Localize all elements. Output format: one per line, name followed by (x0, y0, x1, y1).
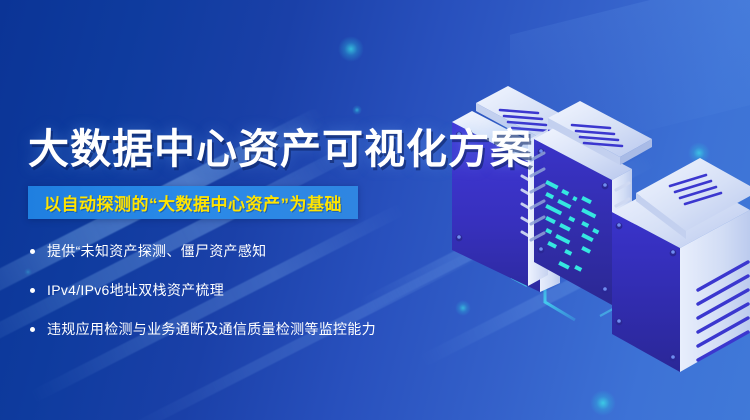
subtitle-text: 以自动探测的“大数据中心资产”为基础 (44, 190, 342, 215)
server-rack-3 (612, 158, 750, 372)
bullet-label: 违规应用检测与业务通断及通信质量检测等监控能力 (47, 319, 376, 339)
page-title: 大数据中心资产可视化方案 (28, 124, 532, 174)
list-item: IPv4/IPv6地址双栈资产梳理 (30, 277, 460, 303)
list-item: 违规应用检测与业务通断及通信质量检测等监控能力 (30, 316, 460, 342)
bullet-label: IPv4/IPv6地址双栈资产梳理 (47, 280, 224, 300)
bullet-dot-icon (30, 327, 35, 332)
bullet-dot-icon (30, 249, 35, 254)
subtitle-bar: 以自动探测的“大数据中心资产”为基础 (28, 186, 358, 219)
bullet-label: 提供“未知资产探测、僵尸资产感知 (47, 241, 266, 261)
bullet-dot-icon (30, 288, 35, 293)
list-item: 提供“未知资产探测、僵尸资产感知 (30, 238, 460, 264)
feature-bullet-list: 提供“未知资产探测、僵尸资产感知 IPv4/IPv6地址双栈资产梳理 违规应用检… (30, 238, 460, 355)
banner-root: 大数据中心资产可视化方案 以自动探测的“大数据中心资产”为基础 提供“未知资产探… (0, 0, 750, 420)
